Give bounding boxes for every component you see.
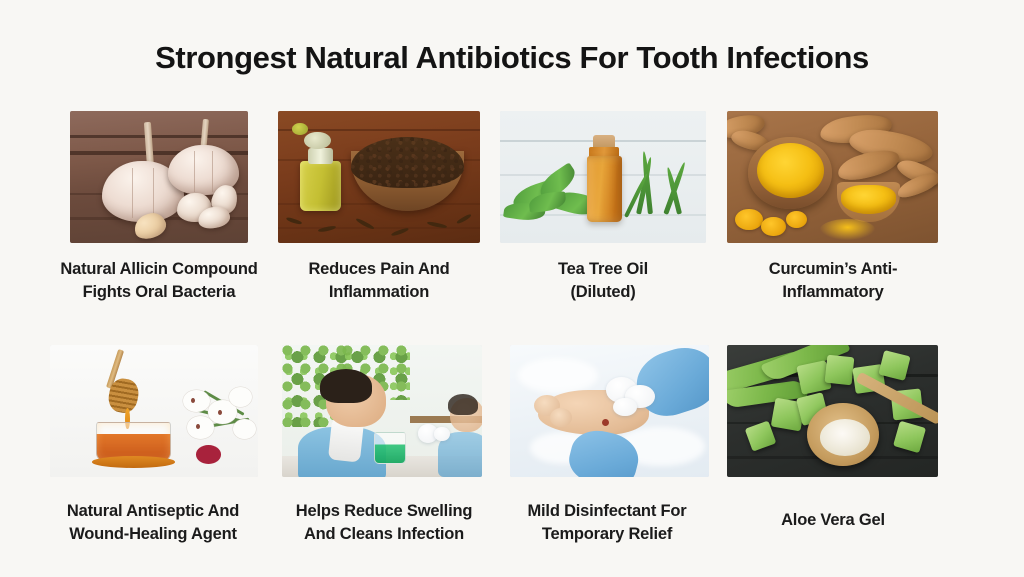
caption-turmeric-line1: Curcumin’s Anti- bbox=[722, 258, 944, 281]
caption-hydrogen-peroxide: Mild Disinfectant For Temporary Relief bbox=[494, 500, 720, 546]
gargling-mouthwash-photo bbox=[282, 345, 482, 477]
caption-hydrogen-peroxide-line2: Temporary Relief bbox=[494, 523, 720, 546]
caption-clove-oil-line1: Reduces Pain And bbox=[252, 258, 506, 281]
caption-clove-oil: Reduces Pain And Inflammation bbox=[252, 258, 506, 304]
caption-hydrogen-peroxide-line1: Mild Disinfectant For bbox=[494, 500, 720, 523]
manuka-honey-photo bbox=[50, 345, 258, 477]
aloe-vera-photo bbox=[727, 345, 938, 477]
garlic-bulbs-photo bbox=[70, 111, 248, 243]
caption-turmeric: Curcumin’s Anti- Inflammatory bbox=[722, 258, 944, 304]
caption-tea-tree-oil: Tea Tree Oil (Diluted) bbox=[490, 258, 716, 304]
infographic-page: Strongest Natural Antibiotics For Tooth … bbox=[0, 0, 1024, 577]
caption-aloe-vera-line1: Aloe Vera Gel bbox=[722, 509, 944, 532]
caption-honey: Natural Antiseptic And Wound-Healing Age… bbox=[34, 500, 272, 546]
turmeric-photo bbox=[727, 111, 938, 243]
clove-oil-photo bbox=[278, 111, 480, 243]
caption-honey-line1: Natural Antiseptic And bbox=[34, 500, 272, 523]
tea-tree-oil-photo bbox=[500, 111, 706, 243]
caption-aloe-vera: Aloe Vera Gel bbox=[722, 509, 944, 532]
items-grid: Natural Allicin Compound Fights Oral Bac… bbox=[0, 0, 1024, 577]
wound-disinfecting-photo bbox=[510, 345, 709, 477]
caption-saltwater-rinse-line1: Helps Reduce Swelling bbox=[268, 500, 500, 523]
caption-tea-tree-oil-line1: Tea Tree Oil bbox=[490, 258, 716, 281]
caption-turmeric-line2: Inflammatory bbox=[722, 281, 944, 304]
caption-tea-tree-oil-line2: (Diluted) bbox=[490, 281, 716, 304]
caption-clove-oil-line2: Inflammation bbox=[252, 281, 506, 304]
caption-saltwater-rinse: Helps Reduce Swelling And Cleans Infecti… bbox=[268, 500, 500, 546]
caption-honey-line2: Wound-Healing Agent bbox=[34, 523, 272, 546]
caption-saltwater-rinse-line2: And Cleans Infection bbox=[268, 523, 500, 546]
